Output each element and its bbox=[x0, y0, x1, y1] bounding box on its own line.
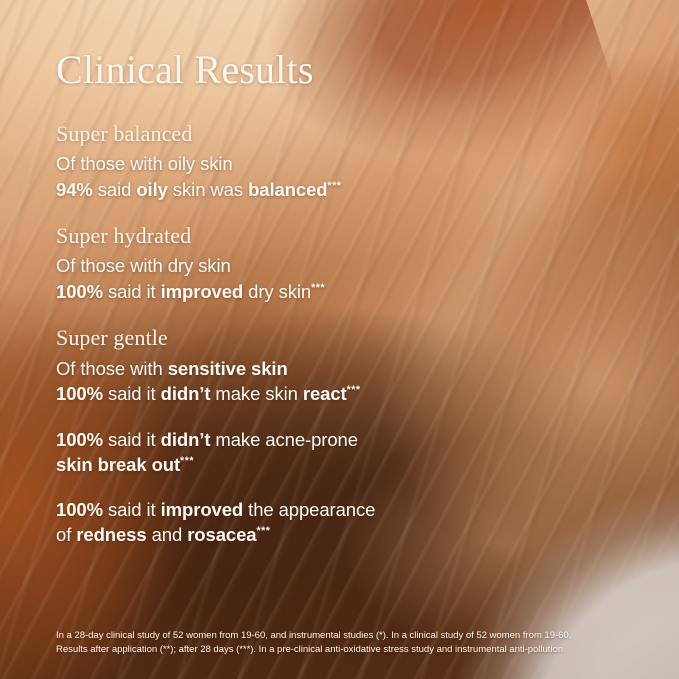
claim-block: Super balancedOf those with oily skin94%… bbox=[56, 120, 476, 202]
claim-line: skin break out*** bbox=[56, 452, 476, 478]
clinical-results-panel: Clinical Results Super balancedOf those … bbox=[0, 0, 679, 679]
footnote-marker: *** bbox=[256, 525, 270, 537]
claim-heading: Super gentle bbox=[56, 324, 476, 352]
claim-emphasis: skin break out bbox=[56, 454, 180, 475]
claim-block: Super hydratedOf those with dry skin100%… bbox=[56, 222, 476, 304]
claim-emphasis: improved bbox=[161, 499, 243, 520]
claim-emphasis: redness bbox=[76, 524, 146, 545]
claim-line: Of those with dry skin bbox=[56, 253, 476, 279]
claim-emphasis: 100% bbox=[56, 383, 103, 404]
footnote-marker: *** bbox=[347, 384, 361, 396]
claim-emphasis: 100% bbox=[56, 429, 103, 450]
claim-emphasis: rosacea bbox=[187, 524, 256, 545]
claim-text: said it bbox=[103, 281, 161, 302]
claim-emphasis: oily bbox=[136, 179, 167, 200]
claim-emphasis: sensitive skin bbox=[168, 358, 288, 379]
claim-text: make acne-prone bbox=[210, 429, 358, 450]
claim-text: Of those with dry skin bbox=[56, 255, 231, 276]
claim-line: 100% said it didn’t make skin react*** bbox=[56, 381, 476, 407]
claim-text: dry skin bbox=[243, 281, 311, 302]
claim-line: 100% said it improved the appearance bbox=[56, 497, 476, 523]
claim-line: 100% said it didn’t make acne-prone bbox=[56, 427, 476, 453]
claim-emphasis: improved bbox=[161, 281, 243, 302]
claim-text: said it bbox=[103, 429, 161, 450]
claim-emphasis: 100% bbox=[56, 281, 103, 302]
claim-emphasis: 100% bbox=[56, 499, 103, 520]
footnote-marker: *** bbox=[180, 455, 194, 467]
claim-line: 100% said it improved dry skin*** bbox=[56, 279, 476, 305]
claim-emphasis: balanced bbox=[248, 179, 327, 200]
claim-text: of bbox=[56, 524, 76, 545]
claim-emphasis: 94% bbox=[56, 179, 93, 200]
claim-emphasis: react bbox=[303, 383, 347, 404]
claim-text: the appearance bbox=[243, 499, 375, 520]
claim-block: 100% said it didn’t make acne-proneskin … bbox=[56, 427, 476, 478]
footnote-line-2: Results after application (**); after 28… bbox=[56, 643, 636, 657]
claim-block: Super gentleOf those with sensitive skin… bbox=[56, 324, 476, 406]
claim-text: Of those with oily skin bbox=[56, 153, 233, 174]
claim-line: Of those with sensitive skin bbox=[56, 356, 476, 382]
claim-text: and bbox=[147, 524, 188, 545]
claim-line: 94% said oily skin was balanced*** bbox=[56, 177, 476, 203]
claim-emphasis: didn’t bbox=[161, 383, 211, 404]
claim-heading: Super balanced bbox=[56, 120, 476, 148]
claim-heading: Super hydrated bbox=[56, 222, 476, 250]
claim-line: Of those with oily skin bbox=[56, 151, 476, 177]
footnote-line-1: In a 28-day clinical study of 52 women f… bbox=[56, 629, 636, 643]
footnote-marker: *** bbox=[327, 180, 341, 192]
page-title: Clinical Results bbox=[56, 50, 314, 90]
claim-line: of redness and rosacea*** bbox=[56, 522, 476, 548]
footnote: In a 28-day clinical study of 52 women f… bbox=[56, 629, 636, 656]
claim-text: Of those with bbox=[56, 358, 168, 379]
claim-block: 100% said it improved the appearanceof r… bbox=[56, 497, 476, 548]
footnote-marker: *** bbox=[311, 282, 325, 294]
claim-text: skin was bbox=[168, 179, 248, 200]
claim-text: said bbox=[93, 179, 137, 200]
claim-text: make skin bbox=[210, 383, 302, 404]
content-wrapper: Clinical Results Super balancedOf those … bbox=[0, 0, 679, 679]
claims-list: Super balancedOf those with oily skin94%… bbox=[56, 120, 476, 567]
claim-text: said it bbox=[103, 383, 161, 404]
claim-text: said it bbox=[103, 499, 161, 520]
claim-emphasis: didn’t bbox=[161, 429, 211, 450]
